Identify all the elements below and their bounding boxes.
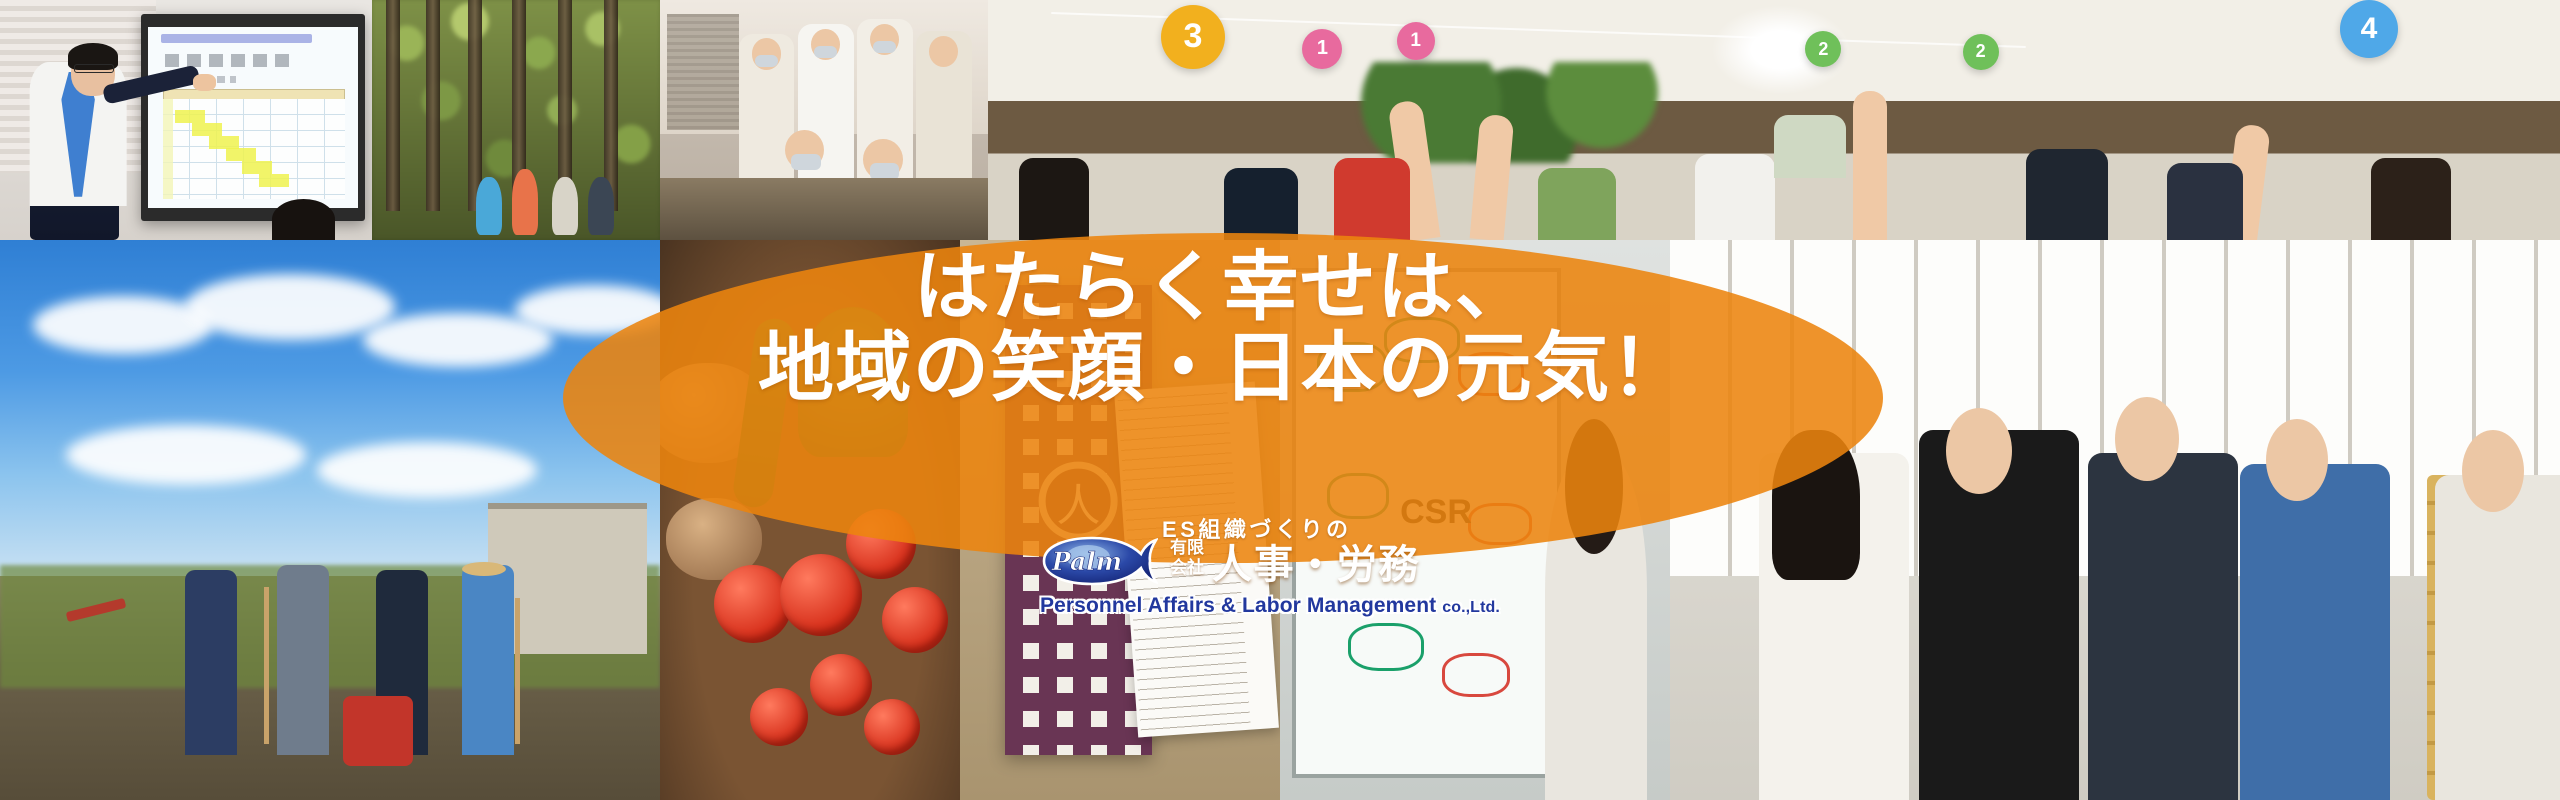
- event-balloon: 2: [1963, 34, 1999, 70]
- event-attendee: [1695, 154, 1775, 240]
- forest-hiker: [476, 177, 502, 235]
- forest-hiker: [588, 177, 614, 235]
- slide-highlight-cell: [259, 174, 289, 187]
- tree-trunk: [386, 0, 400, 211]
- face-mask: [873, 41, 896, 53]
- slide-highlight-cell: [192, 123, 222, 136]
- logo-company-suffix-en: co.,Ltd.: [1442, 599, 1500, 616]
- event-attendee: [2167, 163, 2243, 240]
- participant-face: [2115, 397, 2179, 481]
- event-attendee: [2371, 158, 2451, 240]
- tomato: [882, 587, 948, 653]
- palm-fish-logo-icon: Palm: [1040, 534, 1158, 586]
- logo-entity-prefix-line2: 会社: [1170, 558, 1204, 577]
- cloud: [317, 442, 537, 498]
- cloud: [185, 274, 395, 340]
- tiller-machine: [343, 696, 413, 766]
- photo-tile-event-hands-raised: 3 1 1 2 2 4: [988, 0, 2560, 240]
- photo-tile-forest-walk: [372, 0, 660, 240]
- headline-line-1: はたらく幸せは、: [914, 247, 1533, 328]
- workshop-participant: [2435, 475, 2560, 800]
- logo-company-name-en: Personnel Affairs & Labor Management co.…: [1040, 594, 1440, 618]
- logo-entity-prefix: 有限 会社: [1164, 538, 1210, 578]
- photo-tile-farm-field-work: [0, 240, 660, 800]
- event-balloon: 1: [1397, 22, 1435, 60]
- event-balloon: 3: [1161, 5, 1225, 69]
- forest-hiker: [512, 169, 538, 235]
- workshop-participant: [1919, 430, 2079, 800]
- event-attendee: [1019, 158, 1089, 240]
- field-worker: [462, 565, 514, 755]
- presenter-glasses: [74, 64, 113, 73]
- forest-hiker: [552, 177, 578, 235]
- workshop-participant: [2088, 453, 2238, 800]
- graphic-recording-mark: [1442, 653, 1510, 697]
- tomato: [810, 654, 872, 716]
- headline-line-2: 地域の笑顔・日本の元気！: [758, 328, 1688, 409]
- event-balloon: 4: [2340, 0, 2398, 58]
- field-worker: [185, 570, 237, 755]
- tomato: [780, 554, 862, 636]
- field-worker: [277, 565, 329, 755]
- tomato: [864, 699, 920, 755]
- photo-tile-indoor-team-gathering: [660, 0, 988, 240]
- logo-company-name-en-text: Personnel Affairs & Labor Management: [1040, 594, 1436, 617]
- logo-entity-prefix-line1: 有限: [1170, 538, 1204, 557]
- face-mask: [755, 55, 778, 67]
- projector-screen: [148, 27, 358, 209]
- hero-banner: 3 1 1 2 2 4: [0, 0, 2560, 800]
- event-attendee: [1334, 158, 1410, 240]
- slide-highlight-cell: [226, 148, 256, 161]
- seminar-scene: [0, 0, 372, 240]
- tree-trunk: [468, 0, 482, 211]
- slide-highlight-cell: [175, 110, 205, 123]
- slide-highlight-cell: [242, 161, 272, 174]
- straw-hat: [462, 562, 506, 576]
- workshop-participant: [2240, 464, 2390, 800]
- event-attendee: [2026, 149, 2108, 240]
- slide-title-text: [165, 54, 295, 67]
- participant-face: [1946, 408, 2012, 494]
- participant-face: [2462, 430, 2524, 512]
- face-mask: [791, 154, 821, 171]
- svg-text:Palm: Palm: [1051, 547, 1122, 576]
- logo-company-name-ja: 人事・労務: [1212, 532, 1420, 590]
- slide-table-first-column: [163, 99, 173, 199]
- event-speaker: [1774, 115, 1846, 177]
- participant-face: [2266, 419, 2328, 501]
- tree-trunk: [426, 0, 440, 211]
- cloud: [66, 425, 306, 485]
- presenter-hand: [193, 74, 215, 91]
- event-attendee: [1538, 168, 1616, 240]
- slide-header-bar: [161, 34, 312, 43]
- wall-shelf: [667, 14, 739, 129]
- tomato: [750, 688, 808, 746]
- raised-hand: [1853, 91, 1887, 240]
- front-counter: [660, 178, 988, 240]
- photo-tile-seminar-presentation: [0, 0, 372, 240]
- audience-head: [272, 199, 335, 240]
- face-mask: [814, 46, 837, 58]
- event-attendee: [1224, 168, 1298, 240]
- event-balloon: 1: [1302, 29, 1342, 69]
- slide-highlight-cell: [209, 136, 239, 149]
- company-logo[interactable]: ES組織づくりの Palm 有限 会社 人事・労務 Pers: [1040, 512, 1440, 632]
- projector-frame: [141, 14, 364, 220]
